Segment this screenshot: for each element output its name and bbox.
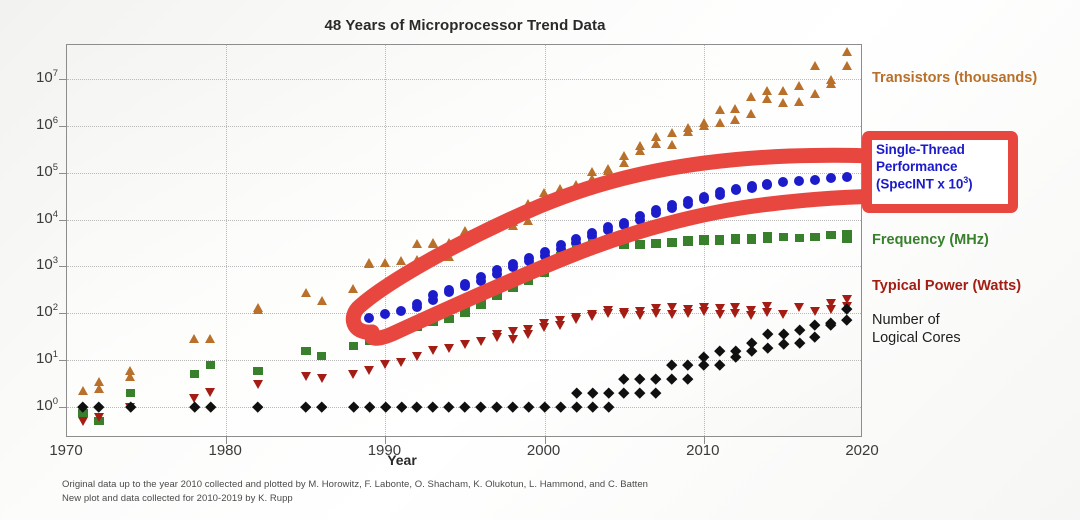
single-thread-callout-box: Single-Thread Performance (SpecINT x 103… [862,131,1018,213]
data-point-marker [683,123,693,132]
legend-label-typical-power: Typical Power (Watts) [872,278,1021,296]
data-point-marker [588,239,598,247]
gridline-horizontal [67,360,861,361]
x-axis-tick-label: 1970 [49,442,82,459]
data-point-marker [523,216,533,225]
x-axis-tick-label: 2010 [686,442,719,459]
data-point-marker [587,310,597,319]
data-point-marker [396,402,407,413]
data-point-marker [747,236,757,244]
data-point-marker [189,334,199,343]
data-point-marker [667,140,677,149]
data-point-marker [826,173,836,183]
data-point-marker [571,388,582,399]
data-point-marker [476,225,486,234]
gridline-horizontal [67,173,861,174]
data-point-marker [746,306,756,315]
data-point-marker [794,97,804,106]
data-point-marker [794,81,804,90]
data-point-marker [699,303,709,312]
data-point-marker [126,389,136,397]
data-point-marker [746,109,756,118]
y-tick-mark [59,220,67,221]
data-point-marker [778,98,788,107]
data-point-marker [571,402,582,413]
data-point-marker [523,199,533,208]
data-point-marker [778,339,789,350]
data-point-marker [762,343,773,354]
y-tick-mark [59,360,67,361]
data-point-marker [396,358,406,367]
data-point-marker [603,306,613,315]
data-point-marker [762,86,772,95]
data-point-marker [731,236,741,244]
data-point-marker [635,211,645,221]
data-point-marker [794,176,804,186]
data-point-marker [667,238,677,246]
legend-label-frequency: Frequency (MHz) [872,232,989,250]
data-point-marker [587,388,598,399]
data-point-marker [810,331,821,342]
data-point-marker [476,295,486,303]
data-point-marker [364,313,374,323]
callout-line-1: Single-Thread [876,142,965,157]
data-point-marker [810,89,820,98]
legend-cores-line-1: Number of [872,312,940,328]
x-axis-tick-label: 2020 [845,442,878,459]
data-point-marker [619,388,630,399]
data-point-marker [539,196,549,205]
data-point-marker [492,265,502,275]
data-point-marker [476,337,486,346]
data-point-marker [794,303,804,312]
data-point-marker [683,359,694,370]
data-point-marker [714,359,725,370]
data-point-marker [779,233,789,241]
data-point-marker [444,315,454,323]
data-point-marker [746,345,757,356]
data-point-marker [364,402,375,413]
data-point-marker [94,402,105,413]
data-point-marker [125,372,135,381]
gridline-horizontal [67,220,861,221]
data-point-marker [842,61,852,70]
data-point-marker [619,373,630,384]
footnote: Original data up to the year 2010 collec… [62,478,648,506]
data-point-marker [348,284,358,293]
data-point-marker [396,306,406,316]
y-axis-tick-label: 104 [14,209,58,227]
data-point-marker [587,167,597,176]
data-point-marker [428,346,438,355]
data-point-marker [556,240,566,250]
data-point-marker [381,332,391,340]
data-point-marker [540,262,550,270]
data-point-marker [94,384,104,393]
data-point-marker [555,321,565,330]
data-point-marker [715,118,725,127]
data-point-marker [412,323,422,331]
data-point-marker [348,370,358,379]
data-point-marker [380,402,391,413]
data-point-marker [619,151,629,160]
data-point-marker [253,367,263,375]
data-point-marker [635,240,645,248]
data-point-marker [730,303,740,312]
callout-line-2: Performance [876,159,957,174]
data-point-marker [412,255,422,264]
data-point-marker [556,252,566,260]
data-point-marker [253,380,263,389]
data-point-marker [205,334,215,343]
y-axis-tick-label: 106 [14,115,58,133]
callout-line-3a: (SpecINT x 10 [876,177,963,192]
data-point-marker [78,417,88,426]
legend-label-logical-cores: Number of Logical Cores [872,312,961,347]
data-point-marker [397,328,407,336]
data-point-marker [492,218,502,227]
x-axis-tick-label: 2000 [527,442,560,459]
y-tick-mark [59,313,67,314]
data-point-marker [651,304,661,313]
data-point-marker [571,186,581,195]
data-point-marker [810,233,820,241]
data-point-marker [683,373,694,384]
data-point-marker [587,402,598,413]
data-point-marker [428,402,439,413]
data-point-marker [635,373,646,384]
data-point-marker [651,373,662,384]
data-point-marker [826,231,836,239]
data-point-marker [460,279,470,289]
data-point-marker [428,238,438,247]
data-point-marker [492,287,502,295]
data-point-marker [380,360,390,369]
chart-canvas: 48 Years of Microprocessor Trend Data 10… [0,0,1080,520]
data-point-marker [253,305,263,314]
data-point-marker [380,258,390,267]
data-point-marker [539,402,550,413]
data-point-marker [714,345,725,356]
data-point-marker [78,386,88,395]
data-point-marker [699,121,709,130]
data-point-marker [492,402,503,413]
gridline-vertical [385,45,386,436]
data-point-marker [763,235,773,243]
data-point-marker [316,402,327,413]
callout-line-3b: ) [968,177,972,192]
data-point-marker [715,105,725,114]
data-point-marker [810,320,821,331]
data-point-marker [349,342,359,350]
data-point-marker [205,402,216,413]
data-point-marker [715,237,725,245]
data-point-marker [301,347,311,355]
data-point-marker [524,253,534,263]
data-point-marker [667,128,677,137]
plot-area [66,44,862,437]
data-point-marker [444,344,454,353]
data-point-marker [794,325,805,336]
data-point-marker [778,86,788,95]
data-point-marker [715,304,725,313]
y-tick-mark [59,266,67,267]
data-point-marker [460,303,470,311]
footnote-line-2: New plot and data collected for 2010-201… [62,492,648,506]
data-point-marker [300,402,311,413]
data-point-marker [444,285,454,295]
data-point-marker [444,252,454,261]
data-point-marker [412,402,423,413]
data-point-marker [731,184,741,194]
data-point-marker [683,305,693,314]
data-point-marker [810,307,820,316]
data-point-marker [826,79,836,88]
data-point-marker [603,166,613,175]
x-axis-tick-label: 1980 [209,442,242,459]
data-point-marker [412,239,422,248]
data-point-marker [460,340,470,349]
data-point-marker [762,329,773,340]
data-point-marker [810,61,820,70]
data-point-marker [317,296,327,305]
data-point-marker [572,245,582,253]
data-point-marker [842,172,852,182]
callout-inner-panel: Single-Thread Performance (SpecINT x 103… [872,140,1008,204]
data-point-marker [507,402,518,413]
data-point-marker [460,402,471,413]
data-point-marker [698,359,709,370]
data-point-marker [778,310,788,319]
data-point-marker [619,241,629,249]
data-point-marker [94,413,104,422]
data-point-marker [794,337,805,348]
data-point-marker [699,235,709,243]
data-point-marker [317,352,327,360]
legend-cores-line-2: Logical Cores [872,330,961,346]
x-axis-title: Year [387,452,417,468]
data-point-marker [508,279,518,287]
data-point-marker [492,330,502,339]
data-point-marker [364,366,374,375]
data-point-marker [523,330,533,339]
data-point-marker [476,402,487,413]
data-point-marker [730,104,740,113]
footnote-line-1: Original data up to the year 2010 collec… [62,478,648,492]
gridline-horizontal [67,126,861,127]
y-tick-mark [59,79,67,80]
data-point-marker [842,235,852,243]
data-point-marker [412,299,422,309]
data-point-marker [651,139,661,148]
chart-title: 48 Years of Microprocessor Trend Data [0,17,930,34]
data-point-marker [842,315,853,326]
data-point-marker [747,181,757,191]
data-point-marker [730,115,740,124]
data-point-marker [555,402,566,413]
gridline-vertical [545,45,546,436]
data-point-marker [667,359,678,370]
data-point-marker [301,288,311,297]
data-point-marker [746,92,756,101]
data-point-marker [508,217,518,226]
data-point-marker [635,141,645,150]
y-tick-mark [59,407,67,408]
data-point-marker [651,388,662,399]
data-point-marker [619,218,629,228]
data-point-marker [348,402,359,413]
y-axis-tick-label: 100 [14,396,58,414]
gridline-horizontal [67,79,861,80]
data-point-marker [189,402,200,413]
data-point-marker [412,352,422,361]
data-point-marker [205,388,215,397]
data-point-marker [364,259,374,268]
data-point-marker [826,305,836,314]
data-point-marker [667,303,677,312]
data-point-marker [523,402,534,413]
data-point-marker [651,205,661,215]
data-point-marker [603,388,614,399]
y-tick-mark [59,126,67,127]
data-point-marker [667,373,678,384]
data-point-marker [651,239,661,247]
data-point-marker [396,256,406,265]
data-point-marker [683,196,693,206]
legend-label-transistors: Transistors (thousands) [872,70,1037,88]
data-point-marker [555,184,565,193]
y-axis-tick-label: 103 [14,255,58,273]
data-point-marker [635,307,645,316]
data-point-marker [571,313,581,322]
data-point-marker [301,372,311,381]
data-point-marker [524,273,534,281]
y-axis-tick-label: 105 [14,162,58,180]
gridline-horizontal [67,266,861,267]
data-point-marker [444,238,454,247]
data-point-marker [795,234,805,242]
data-point-marker [317,374,327,383]
data-point-marker [190,370,200,378]
data-point-marker [619,310,629,319]
callout-text: Single-Thread Performance (SpecINT x 103… [876,142,1004,194]
data-point-marker [635,388,646,399]
data-point-marker [380,309,390,319]
data-point-marker [539,319,549,328]
data-point-marker [762,302,772,311]
data-point-marker [699,192,709,202]
y-axis-tick-label: 107 [14,68,58,86]
data-point-marker [604,235,614,243]
data-point-marker [508,335,518,344]
data-point-marker [540,247,550,257]
y-axis-tick-label: 102 [14,302,58,320]
gridline-vertical [226,45,227,436]
data-point-marker [365,337,375,345]
y-axis-tick-label: 101 [14,349,58,367]
data-point-marker [778,177,788,187]
data-point-marker [206,361,216,369]
data-point-marker [603,402,614,413]
y-tick-mark [59,173,67,174]
data-point-marker [444,402,455,413]
data-point-marker [460,226,470,235]
data-point-marker [428,318,438,326]
data-point-marker [476,272,486,282]
data-point-marker [253,402,264,413]
data-point-marker [683,236,693,244]
data-point-marker [810,175,820,185]
data-point-marker [842,47,852,56]
